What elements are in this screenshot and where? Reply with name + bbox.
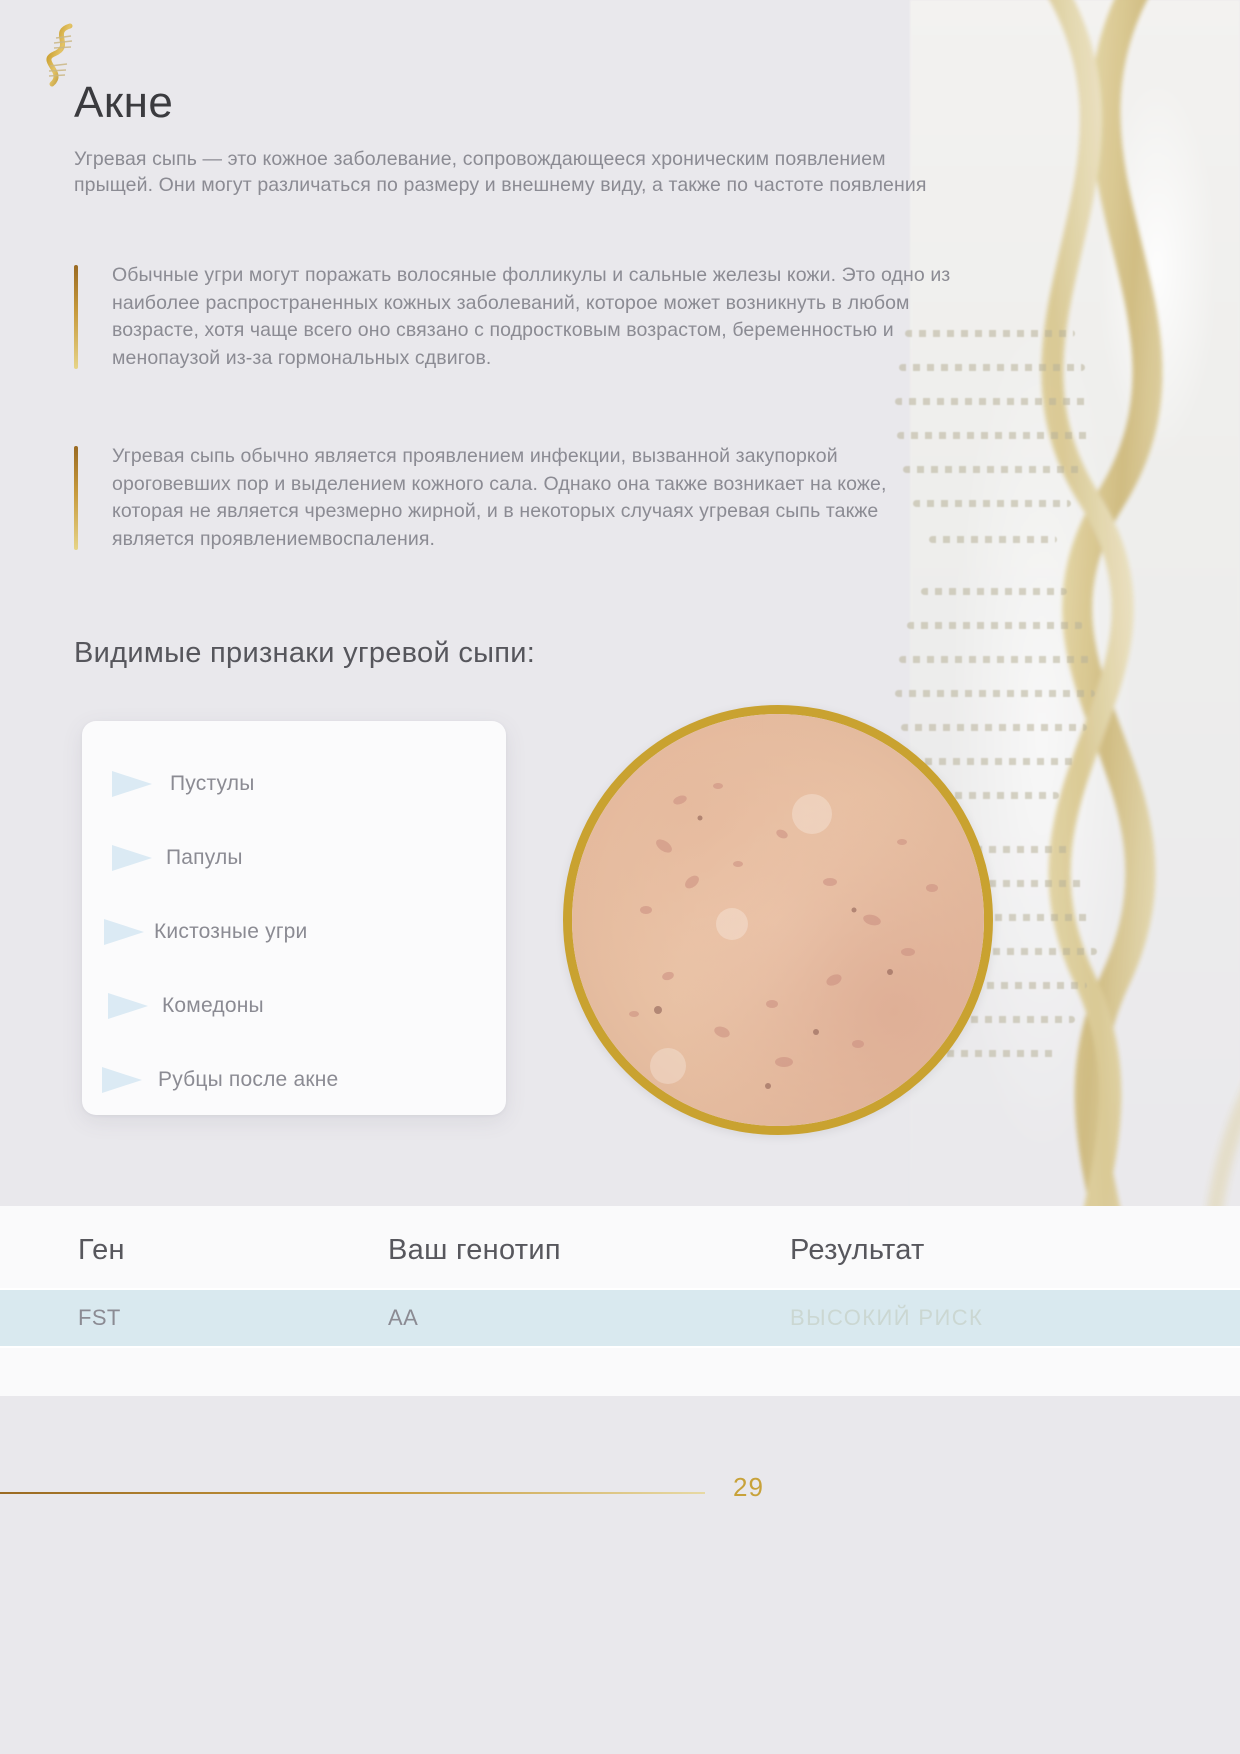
gold-accent-bar — [74, 265, 78, 369]
triangle-bullet-icon — [106, 991, 150, 1021]
triangle-bullet-icon — [110, 843, 154, 873]
list-item-label: Кистозные угри — [154, 920, 308, 944]
highlight-text-2: Угревая сыпь обычно является проявлением… — [112, 443, 954, 553]
highlight-block-1: Обычные угри могут поражать волосяные фо… — [74, 262, 954, 372]
page-title: Акне — [74, 78, 173, 128]
table-row: FST AA ВЫСОКИЙ РИСК — [0, 1288, 1240, 1348]
highlight-block-2: Угревая сыпь обычно является проявлением… — [74, 443, 954, 553]
acne-skin-photo — [563, 705, 993, 1135]
list-item: Комедоны — [110, 969, 506, 1043]
column-header-genotype: Ваш генотип — [388, 1234, 561, 1267]
report-page: Акне Угревая сыпь — это кожное заболеван… — [0, 0, 1240, 1754]
visible-signs-card: Пустулы Папулы Кистозные угри Комедоны — [82, 721, 506, 1115]
page-number: 29 — [733, 1472, 764, 1503]
cell-genotype: AA — [388, 1305, 418, 1331]
table-header-row: Ген Ваш генотип Результат — [0, 1206, 1240, 1288]
triangle-bullet-icon — [102, 917, 146, 947]
results-table: Ген Ваш генотип Результат FST AA ВЫСОКИЙ… — [0, 1206, 1240, 1396]
status-badge: ВЫСОКИЙ РИСК — [790, 1305, 983, 1331]
gold-accent-bar — [74, 446, 78, 550]
intro-paragraph: Угревая сыпь — это кожное заболевание, с… — [74, 146, 964, 198]
triangle-bullet-icon — [110, 769, 154, 799]
list-item: Пустулы — [110, 747, 506, 821]
list-item-label: Пустулы — [170, 772, 255, 796]
list-item: Папулы — [110, 821, 506, 895]
list-item: Рубцы после акне — [110, 1043, 506, 1117]
acne-spots — [572, 714, 984, 1126]
section-heading-signs: Видимые признаки угревой сыпи: — [74, 637, 535, 670]
list-item: Кистозные угри — [110, 895, 506, 969]
highlight-text-1: Обычные угри могут поражать волосяные фо… — [112, 262, 954, 372]
list-item-label: Комедоны — [162, 994, 264, 1018]
signs-list: Пустулы Папулы Кистозные угри Комедоны — [82, 721, 506, 1117]
column-header-result: Результат — [790, 1234, 925, 1267]
list-item-label: Рубцы после акне — [158, 1068, 338, 1092]
column-header-gene: Ген — [78, 1234, 125, 1267]
triangle-bullet-icon — [100, 1065, 144, 1095]
list-item-label: Папулы — [166, 846, 243, 870]
cell-gene: FST — [78, 1305, 121, 1331]
footer-divider — [0, 1492, 705, 1494]
table-footer-strip — [0, 1348, 1240, 1396]
